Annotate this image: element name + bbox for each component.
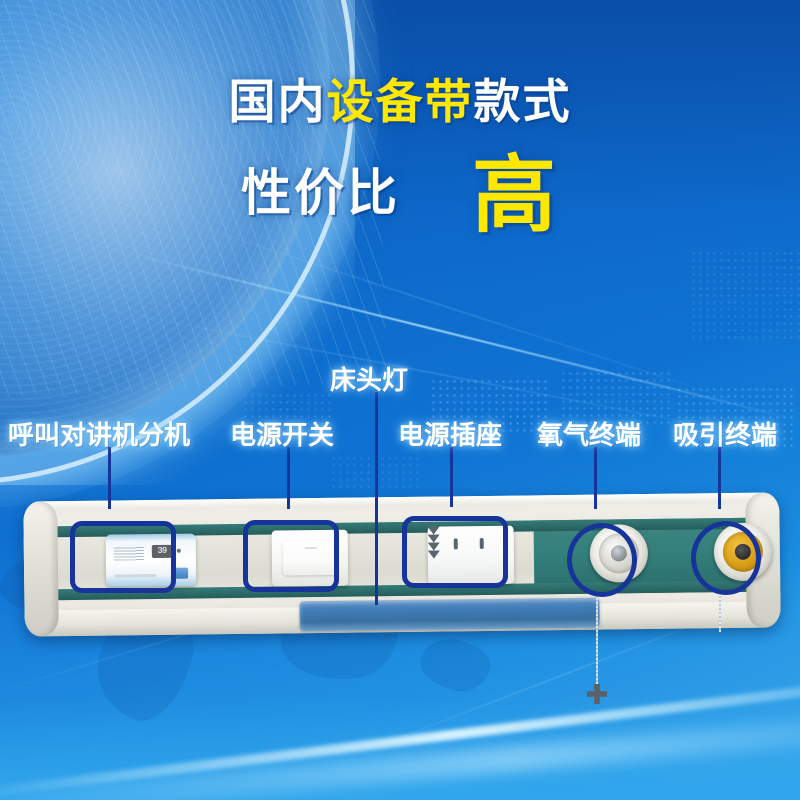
callout-label-group: 呼叫对讲机分机 电源开关 床头灯 电源插座 氧气终端 吸引终端 xyxy=(0,0,800,800)
poster-canvas: 国内设备带款式 性价比高 呼叫对讲机分机 电源开关 床头灯 电源插座 氧气终端 … xyxy=(0,0,800,800)
label-oxygen: 氧气终端 xyxy=(537,415,641,452)
label-intercom: 呼叫对讲机分机 xyxy=(8,415,190,452)
label-power-switch: 电源开关 xyxy=(230,415,334,452)
label-power-outlet: 电源插座 xyxy=(398,415,502,452)
label-suction: 吸引终端 xyxy=(673,415,777,452)
label-bed-lamp: 床头灯 xyxy=(330,360,408,397)
